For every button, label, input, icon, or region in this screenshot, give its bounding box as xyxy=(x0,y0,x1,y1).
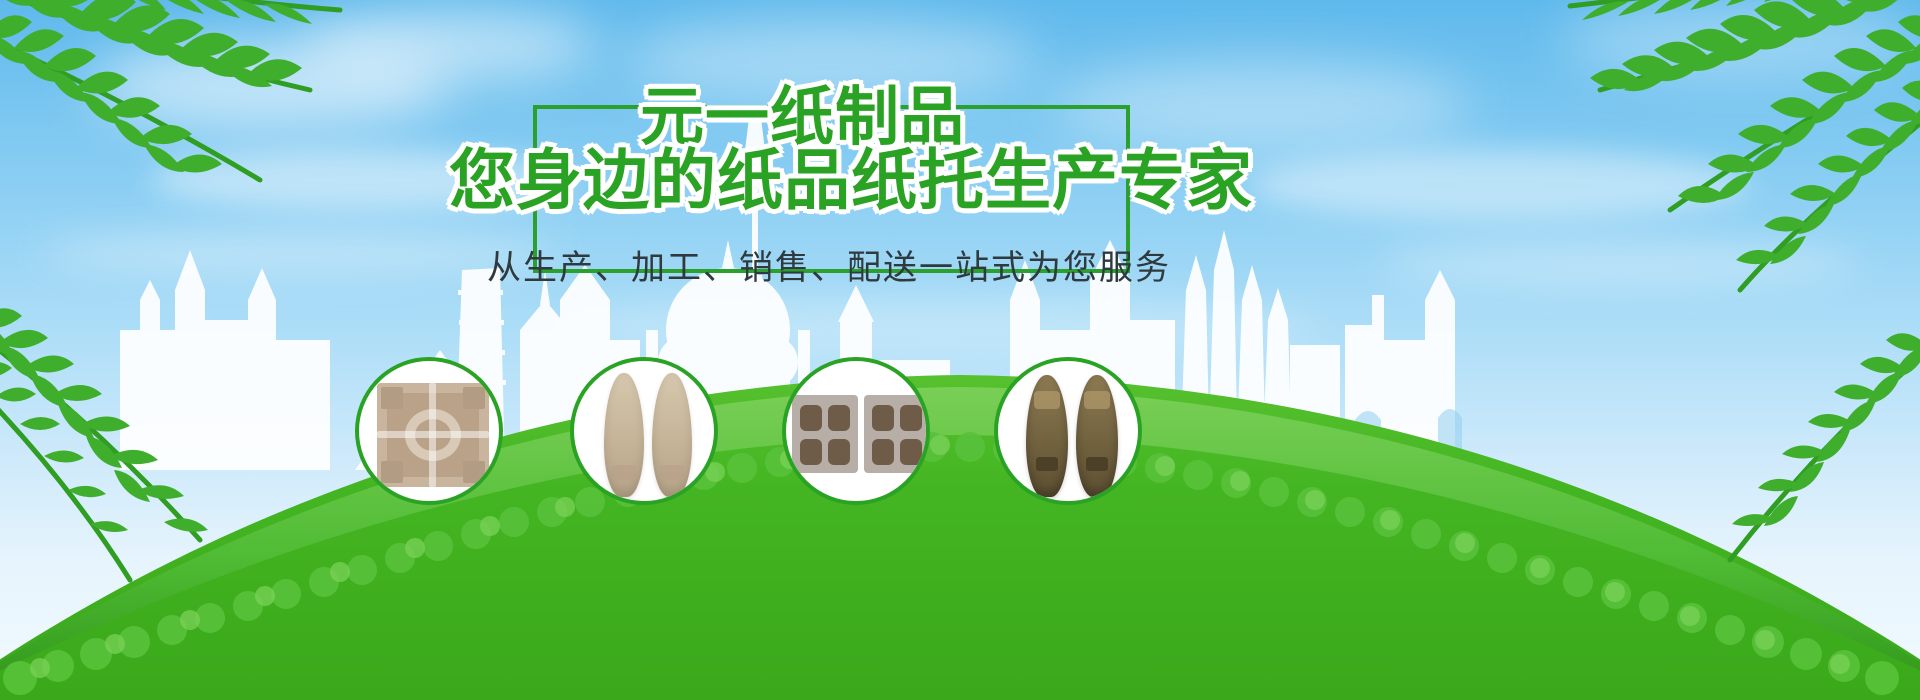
palm-frond-top-right xyxy=(1490,0,1920,360)
product-circle-2[interactable] xyxy=(570,357,718,505)
product-circle-3[interactable] xyxy=(782,357,930,505)
molded-pulp-packaging-pair-image xyxy=(786,361,926,501)
molded-pulp-corner-tray-image xyxy=(359,361,499,501)
service-subtitle: 从生产、加工、销售、配送一站式为您服务 xyxy=(487,240,1171,289)
promo-banner: 元一纸制品 您身边的纸品纸托生产专家 从生产、加工、销售、配送一站式为您服务 xyxy=(0,0,1920,700)
palm-frond-top-left xyxy=(0,0,400,330)
palm-frond-left-lower xyxy=(0,300,330,600)
product-circle-4[interactable] xyxy=(994,357,1142,505)
paper-pulp-insole-pair-image xyxy=(574,361,714,501)
palm-frond-right-lower xyxy=(1610,330,1920,610)
product-circle-1[interactable] xyxy=(355,357,503,505)
dark-pulp-shoe-form-pair-image xyxy=(998,361,1138,501)
